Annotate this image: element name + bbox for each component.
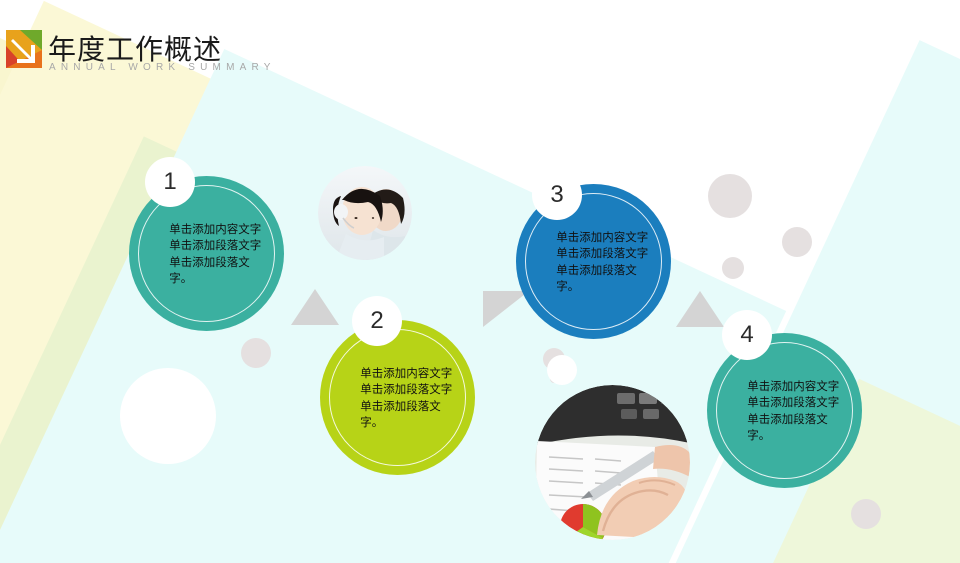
info-circle-1-text: 单击添加内容文字单击添加段落文字单击添加段落文字。 [169,221,271,287]
info-circle-2-text: 单击添加内容文字单击添加段落文字单击添加段落文字。 [360,365,462,431]
decor-triangle-1 [291,289,339,325]
page-subtitle: ANNUAL WORK SUMMARY [49,62,276,73]
decor-dot-8 [851,499,881,529]
decor-dot-7 [553,362,566,375]
arrow-down-right-logo-icon [6,30,42,68]
decor-dot-9 [550,375,558,383]
slide-canvas: 年度工作概述 ANNUAL WORK SUMMARY [0,0,960,563]
decor-dot-2 [241,338,271,368]
call-center-women-photo [318,166,412,260]
decor-dot-6 [722,257,744,279]
info-circle-4[interactable]: 单击添加内容文字单击添加段落文字单击添加段落文字。 [707,333,862,488]
info-circle-4-text: 单击添加内容文字单击添加段落文字单击添加段落文字。 [747,378,849,444]
decor-dot-4 [708,174,752,218]
decor-dot-3 [543,348,565,370]
decor-dot-white-2 [547,355,577,385]
info-circle-1-number: 1 [163,168,176,196]
decor-dot-5 [782,227,812,257]
info-circle-1-number-badge: 1 [145,157,195,207]
info-circle-4-number-badge: 4 [722,310,772,360]
hands-calculator-documents-photo [535,385,690,540]
info-circle-2[interactable]: 单击添加内容文字单击添加段落文字单击添加段落文字。 [320,320,475,475]
info-circle-2-number: 2 [370,307,383,335]
slide-header: 年度工作概述 ANNUAL WORK SUMMARY [0,0,960,92]
decor-dot-white-1 [120,368,216,464]
info-circle-4-number: 4 [740,321,753,349]
info-circle-3-text: 单击添加内容文字单击添加段落文字单击添加段落文字。 [556,229,658,295]
decor-triangle-2 [483,291,529,327]
bg-band-pink [0,142,60,519]
info-circle-3-number: 3 [550,181,563,209]
info-circle-3-number-badge: 3 [532,170,582,220]
decor-triangle-3 [676,291,724,327]
info-circle-2-number-badge: 2 [352,296,402,346]
